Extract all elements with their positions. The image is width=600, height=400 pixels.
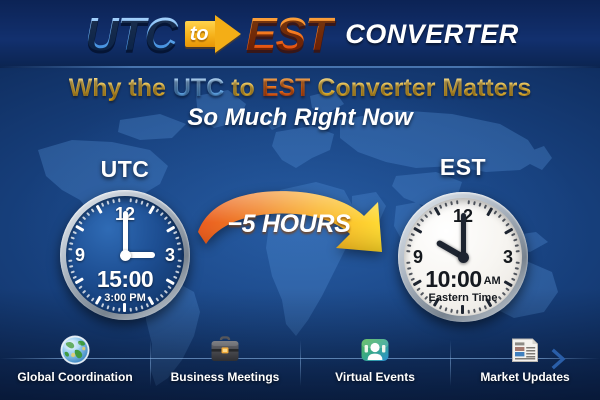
- utc-numeral-9: 9: [75, 246, 85, 264]
- utc-numeral-3: 3: [165, 246, 175, 264]
- video-call-icon: [359, 334, 391, 366]
- utc-clock-label: UTC: [60, 156, 190, 183]
- subheadline-est: EST: [262, 74, 311, 102]
- title-converter: CONVERTER: [345, 21, 519, 48]
- est-clock-hub: [458, 252, 469, 263]
- badge-label: to: [190, 24, 209, 44]
- utc-minute-hand: [123, 211, 128, 255]
- footer-label-virtual-events: Virtual Events: [335, 370, 415, 384]
- utc-digital-time: 15:00: [66, 268, 184, 291]
- globe-icon: [59, 334, 91, 366]
- footer-label-global-coordination: Global Coordination: [17, 370, 132, 384]
- to-arrow-badge: to: [185, 17, 241, 51]
- utc-clock-face: 12 3 9 15:00 3:00 PM: [66, 196, 184, 314]
- est-clock-face: 12 3 9 10:00AM Eastern Time: [404, 198, 522, 316]
- est-numeral-3: 3: [503, 248, 513, 266]
- est-clock-label: EST: [398, 154, 528, 181]
- subheadline-line1: Why the UTC to EST Converter Matters: [0, 74, 600, 102]
- est-clock: 12 3 9 10:00AM Eastern Time: [398, 192, 528, 322]
- subheadline-text-a: Why the: [69, 74, 173, 102]
- utc-clock-hub: [120, 250, 131, 261]
- subheadline-text-b: to: [224, 74, 262, 102]
- footer-label-market-updates: Market Updates: [480, 370, 569, 384]
- news-document-icon: [509, 334, 541, 366]
- subheadline-text-c: Converter Matters: [310, 74, 531, 102]
- est-digital-sub: Eastern Time: [404, 293, 522, 304]
- footer-feature-row: Global Coordination: [0, 334, 600, 400]
- subheadline-line2: So Much Right Now: [0, 104, 600, 133]
- briefcase-icon: [209, 334, 241, 366]
- est-digital-time: 10:00AM: [404, 268, 522, 291]
- subheadline: Why the UTC to EST Converter Matters So …: [0, 74, 600, 133]
- title-utc: UTC: [81, 11, 181, 57]
- est-time-value: 10:00: [425, 266, 481, 292]
- footer-item-market-updates[interactable]: Market Updates: [450, 334, 600, 400]
- subheadline-utc: UTC: [173, 74, 224, 102]
- offset-arrow-banner: −5 HOURS: [196, 186, 396, 278]
- est-numeral-9: 9: [413, 248, 423, 266]
- footer-item-virtual-events[interactable]: Virtual Events: [300, 334, 450, 400]
- footer-item-global-coordination[interactable]: Global Coordination: [0, 334, 150, 400]
- arrow-offset-text: −5 HOURS: [196, 210, 382, 239]
- est-time-ampm: AM: [484, 275, 501, 287]
- utc-digital-readout: 15:00 3:00 PM: [66, 268, 184, 304]
- footer-label-business-meetings: Business Meetings: [171, 370, 280, 384]
- est-digital-readout: 10:00AM Eastern Time: [404, 268, 522, 304]
- infographic-poster: UTC to EST CONVERTER Why the UTC to EST …: [0, 0, 600, 400]
- utc-clock: 12 3 9 15:00 3:00 PM: [60, 190, 190, 320]
- utc-digital-sub: 3:00 PM: [66, 293, 184, 304]
- title-est: EST: [243, 11, 335, 57]
- badge-arrowhead-icon: [215, 15, 241, 53]
- footer-item-business-meetings[interactable]: Business Meetings: [150, 334, 300, 400]
- est-minute-hand: [461, 213, 466, 257]
- main-title: UTC to EST CONVERTER: [0, 6, 600, 62]
